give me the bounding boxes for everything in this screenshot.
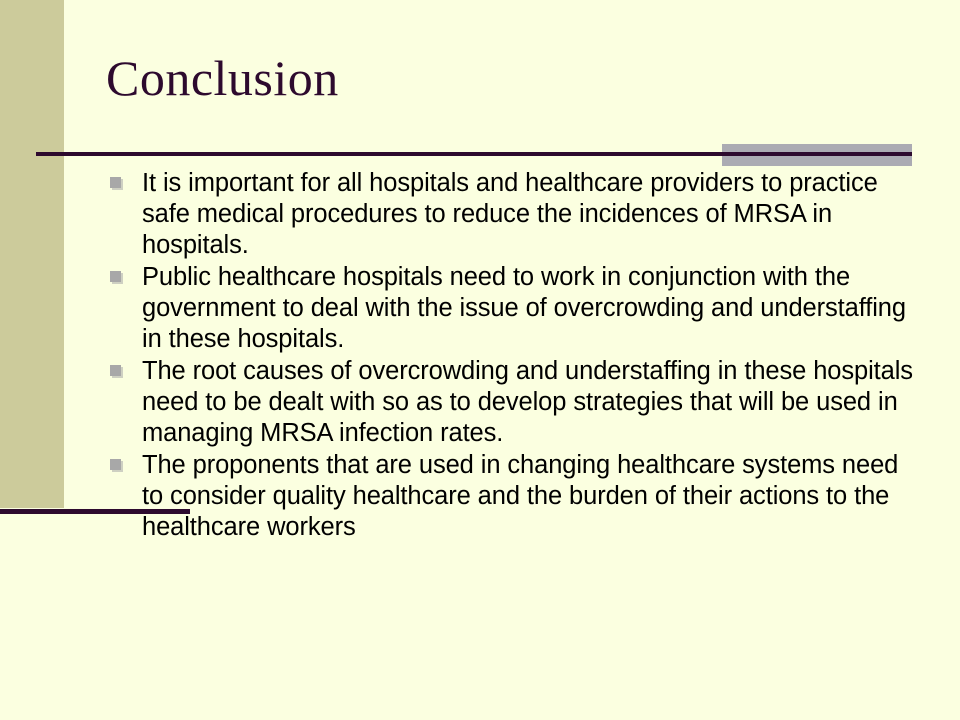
- slide-body-bullet-list: It is important for all hospitals and he…: [106, 168, 916, 544]
- title-divider-line: [36, 152, 912, 156]
- list-item: The proponents that are used in changing…: [106, 450, 916, 543]
- list-item: The root causes of overcrowding and unde…: [106, 356, 916, 449]
- title-divider-group: [0, 142, 960, 168]
- list-item-text: It is important for all hospitals and he…: [142, 168, 916, 261]
- list-item-text: The root causes of overcrowding and unde…: [142, 356, 916, 449]
- list-item-text: The proponents that are used in changing…: [142, 450, 916, 543]
- square-bullet-icon: [110, 365, 121, 376]
- slide-title: Conclusion: [106, 52, 906, 105]
- list-item-text: Public healthcare hospitals need to work…: [142, 262, 916, 355]
- list-item: Public healthcare hospitals need to work…: [106, 262, 916, 355]
- square-bullet-icon: [110, 177, 121, 188]
- left-decorative-band: [0, 0, 64, 508]
- square-bullet-icon: [110, 459, 121, 470]
- presentation-slide: Conclusion It is important for all hospi…: [0, 0, 960, 720]
- list-item: It is important for all hospitals and he…: [106, 168, 916, 261]
- square-bullet-icon: [110, 271, 121, 282]
